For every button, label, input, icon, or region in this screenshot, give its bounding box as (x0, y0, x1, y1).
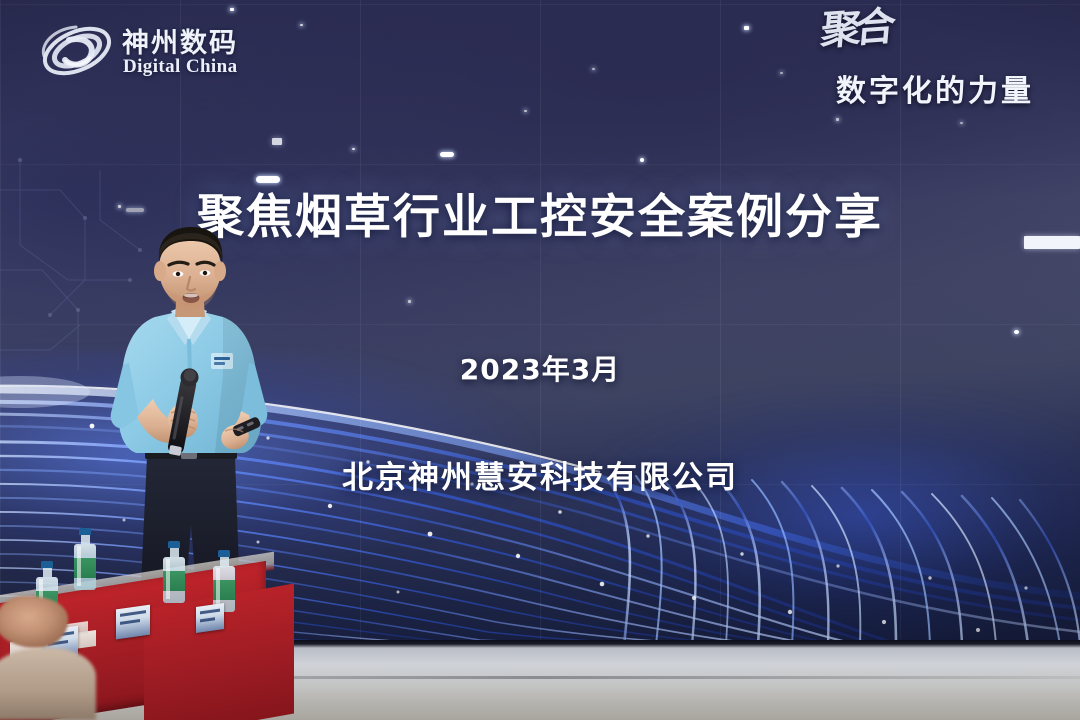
water-bottle (213, 550, 235, 612)
name-card (116, 605, 150, 640)
water-bottle (163, 541, 185, 603)
attendee-hand (0, 596, 68, 648)
spiral-swirl-icon (38, 20, 116, 82)
event-logo: 聚合 数字化的力量 (796, 12, 1058, 108)
digital-china-chinese-name: 神州数码 (122, 21, 238, 60)
attendee-shoulder (0, 648, 96, 720)
digital-china-english-name: Digital China (123, 56, 237, 78)
water-bottle (74, 528, 96, 590)
name-card (196, 603, 224, 633)
digital-china-logo: 神州数码 Digital China (38, 18, 278, 90)
chest-logo-patch (211, 353, 233, 369)
conference-stage-photo: 神州数码 Digital China 聚合 数字化的力量 聚焦烟草行业工控安全案… (0, 0, 1080, 720)
event-tagline: 数字化的力量 (836, 66, 1034, 110)
